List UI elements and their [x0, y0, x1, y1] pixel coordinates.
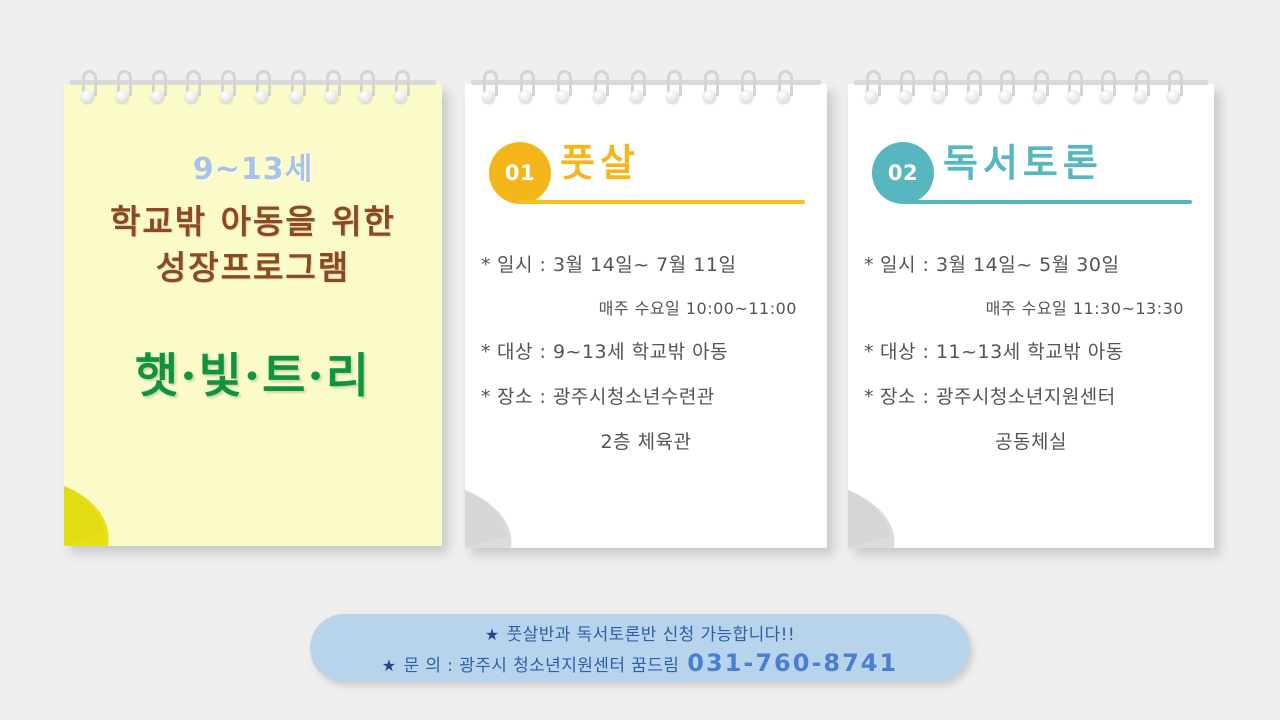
- binding-bar: [471, 80, 821, 85]
- program-1-number-badge: 01: [489, 142, 551, 204]
- detail-label: 일시 :: [880, 254, 929, 276]
- program-1-underline: [517, 200, 805, 204]
- page-fold-corner-gray: [848, 470, 926, 548]
- detail-row: *일시 : 3월 14일~ 5월 30일: [864, 256, 1198, 275]
- program-1-title: 풋살: [560, 132, 640, 187]
- bullet-star: *: [864, 386, 874, 408]
- program-2-details: *일시 : 3월 14일~ 5월 30일 매주 수요일 11:30~13:30 …: [848, 256, 1214, 452]
- intro-card: 9~13세 학교밖 아동을 위한 성장프로그램 햇·빛·트·리: [64, 84, 442, 546]
- program-1-details: *일시 : 3월 14일~ 7월 11일 매주 수요일 10:00~11:00 …: [465, 256, 827, 452]
- detail-row: *장소 : 광주시청소년수련관: [481, 388, 811, 407]
- banner-line-2: ★ 문 의 : 광주시 청소년지원센터 꿈드림 031-760-8741: [382, 649, 898, 677]
- age-range-label: 9~13세: [64, 144, 442, 188]
- brand-name: 햇·빛·트·리: [64, 337, 442, 406]
- detail-value: 매주 수요일 11:30~13:30: [986, 299, 1184, 318]
- program-1-header: 01 풋살: [465, 138, 827, 214]
- program-2-header: 02 독서토론: [848, 138, 1214, 214]
- detail-row: *대상 : 9~13세 학교밖 아동: [481, 343, 811, 362]
- binding-bar: [70, 80, 436, 85]
- headline-line-2: 성장프로그램: [64, 246, 442, 290]
- bullet-star: *: [481, 254, 491, 276]
- contact-phone-number: 031-760-8741: [687, 649, 898, 677]
- program-card-2-sheet: 02 독서토론 *일시 : 3월 14일~ 5월 30일 매주 수요일 11:3…: [848, 84, 1214, 548]
- detail-value: 11~13세 학교밖 아동: [936, 341, 1124, 363]
- program-2-underline: [900, 200, 1192, 204]
- detail-label: 장소 :: [880, 386, 929, 408]
- binding-bar: [854, 80, 1208, 85]
- detail-value: 공동체실: [995, 431, 1067, 453]
- star-icon: ★: [382, 656, 397, 675]
- headline-line-1: 학교밖 아동을 위한: [64, 200, 442, 244]
- star-icon: ★: [485, 625, 500, 644]
- bullet-star: *: [481, 386, 491, 408]
- intro-card-sheet: 9~13세 학교밖 아동을 위한 성장프로그램 햇·빛·트·리: [64, 84, 442, 546]
- detail-value: 매주 수요일 10:00~11:00: [599, 299, 797, 318]
- banner-line-1: ★ 풋살반과 독서토론반 신청 가능합니다!!: [485, 620, 795, 645]
- bullet-star: *: [481, 341, 491, 363]
- detail-label: 일시 :: [497, 254, 546, 276]
- page-fold-corner-gray: [465, 470, 543, 548]
- poster-root: 9~13세 학교밖 아동을 위한 성장프로그램 햇·빛·트·리 01 풋살 *일…: [0, 0, 1280, 720]
- program-card-1: 01 풋살 *일시 : 3월 14일~ 7월 11일 매주 수요일 10:00~…: [465, 84, 827, 548]
- detail-value: 2층 체육관: [600, 431, 691, 453]
- detail-value: 9~13세 학교밖 아동: [553, 341, 728, 363]
- detail-label: 대상 :: [497, 341, 546, 363]
- program-card-2: 02 독서토론 *일시 : 3월 14일~ 5월 30일 매주 수요일 11:3…: [848, 84, 1214, 548]
- detail-value: 광주시청소년지원센터: [936, 386, 1116, 408]
- banner-line-1-text: 풋살반과 독서토론반 신청 가능합니다!!: [507, 620, 795, 645]
- program-card-1-sheet: 01 풋살 *일시 : 3월 14일~ 7월 11일 매주 수요일 10:00~…: [465, 84, 827, 548]
- detail-value: 3월 14일~ 5월 30일: [936, 254, 1120, 276]
- detail-label: 장소 :: [497, 386, 546, 408]
- detail-row: 매주 수요일 11:30~13:30: [864, 301, 1198, 317]
- program-2-number-badge: 02: [872, 142, 934, 204]
- detail-row: 매주 수요일 10:00~11:00: [481, 301, 811, 317]
- detail-label: 대상 :: [880, 341, 929, 363]
- program-2-title: 독서토론: [943, 132, 1103, 187]
- detail-row: *일시 : 3월 14일~ 7월 11일: [481, 256, 811, 275]
- detail-row: 공동체실: [864, 433, 1198, 452]
- banner-contact-label: 문 의 : 광주시 청소년지원센터 꿈드림: [404, 651, 680, 676]
- detail-value: 3월 14일~ 7월 11일: [553, 254, 737, 276]
- detail-value: 광주시청소년수련관: [553, 386, 715, 408]
- detail-row: *장소 : 광주시청소년지원센터: [864, 388, 1198, 407]
- bullet-star: *: [864, 341, 874, 363]
- detail-row: 2층 체육관: [481, 433, 811, 452]
- detail-row: *대상 : 11~13세 학교밖 아동: [864, 343, 1198, 362]
- intro-card-content: 9~13세 학교밖 아동을 위한 성장프로그램 햇·빛·트·리: [64, 84, 442, 546]
- bullet-star: *: [864, 254, 874, 276]
- contact-banner: ★ 풋살반과 독서토론반 신청 가능합니다!! ★ 문 의 : 광주시 청소년지…: [310, 614, 970, 682]
